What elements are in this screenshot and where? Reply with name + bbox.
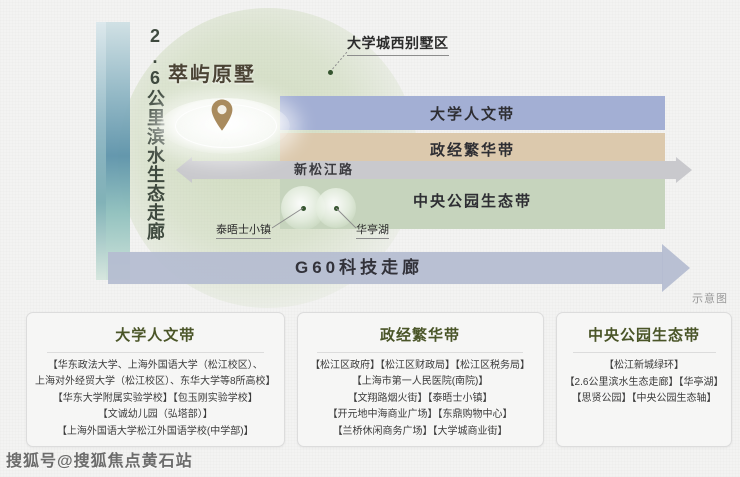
list-item: 【文翔路烟火街】【泰晤士小镇】 bbox=[348, 393, 493, 406]
callout-huating-lake: 华亭湖 bbox=[356, 221, 389, 239]
sohu-watermark: 搜狐号@搜狐焦点黄石站 bbox=[6, 447, 193, 471]
list-item: 【文诚幼儿园（弘塔部）】 bbox=[98, 409, 213, 422]
schematic-note: 示意图 bbox=[692, 290, 728, 306]
g60-arrow-icon bbox=[662, 244, 690, 292]
card-university-culture-title: 大学人文带 bbox=[115, 324, 195, 345]
card-divider bbox=[317, 352, 523, 353]
list-item: 【上海市第一人民医院(南院)】 bbox=[352, 376, 489, 389]
location-diagram: 2.6公里滨水生态走廊 大学人文带 政经繁华带 中央公园生态带 新松江路 萃屿原… bbox=[0, 0, 740, 310]
list-item: 【松江新城绿环】 bbox=[604, 360, 684, 373]
list-item: 【华东大学附属实验学校】【包玉刚实验学校】 bbox=[53, 393, 258, 406]
list-item: 【2.6公里滨水生态走廊】【华亭湖】 bbox=[565, 377, 724, 390]
g60-corridor-label: G60科技走廊 bbox=[295, 252, 423, 284]
list-item: 【松江区政府】【松江区财政局】【松江区税务局】 bbox=[310, 360, 530, 373]
list-item: 上海对外经贸大学（松江校区）、东华大学等8所高校】 bbox=[35, 376, 276, 389]
card-divider bbox=[573, 352, 716, 353]
card-university-culture-lines: 【华东政法大学、上海外国语大学（松江校区）、 上海对外经贸大学（松江校区）、东华… bbox=[35, 360, 276, 439]
card-central-park-ecology-lines: 【松江新城绿环】 【2.6公里滨水生态走廊】【华亭湖】 【思贤公园】【中央公园生… bbox=[565, 360, 724, 406]
card-university-culture: 大学人文带 【华东政法大学、上海外国语大学（松江校区）、 上海对外经贸大学（松江… bbox=[26, 312, 285, 447]
list-item: 【思贤公园】【中央公园生态轴】 bbox=[572, 393, 717, 406]
card-government-commerce: 政经繁华带 【松江区政府】【松江区财政局】【松江区税务局】 【上海市第一人民医院… bbox=[297, 312, 544, 447]
info-cards-row: 大学人文带 【华东政法大学、上海外国语大学（松江校区）、 上海对外经贸大学（松江… bbox=[0, 312, 740, 447]
card-central-park-ecology: 中央公园生态带 【松江新城绿环】 【2.6公里滨水生态走廊】【华亭湖】 【思贤公… bbox=[556, 312, 733, 447]
list-item: 【华东政法大学、上海外国语大学（松江校区）、 bbox=[48, 360, 263, 373]
villa-area-dot bbox=[328, 70, 333, 75]
list-item: 【开元地中海商业广场】【东鼎购物中心】 bbox=[328, 409, 513, 422]
callout-villa-area: 大学城西别墅区 bbox=[347, 33, 449, 56]
card-government-commerce-lines: 【松江区政府】【松江区财政局】【松江区税务局】 【上海市第一人民医院(南院)】 … bbox=[310, 360, 530, 439]
card-central-park-ecology-title: 中央公园生态带 bbox=[588, 324, 700, 345]
list-item: 【上海外国语大学松江外国语学校(中学部)】 bbox=[57, 426, 254, 439]
list-item: 【兰桥休闲商务广场】【大学城商业街】 bbox=[333, 426, 508, 439]
card-divider bbox=[47, 352, 264, 353]
callout-thames-town: 泰晤士小镇 bbox=[216, 221, 271, 239]
card-government-commerce-title: 政经繁华带 bbox=[380, 324, 460, 345]
